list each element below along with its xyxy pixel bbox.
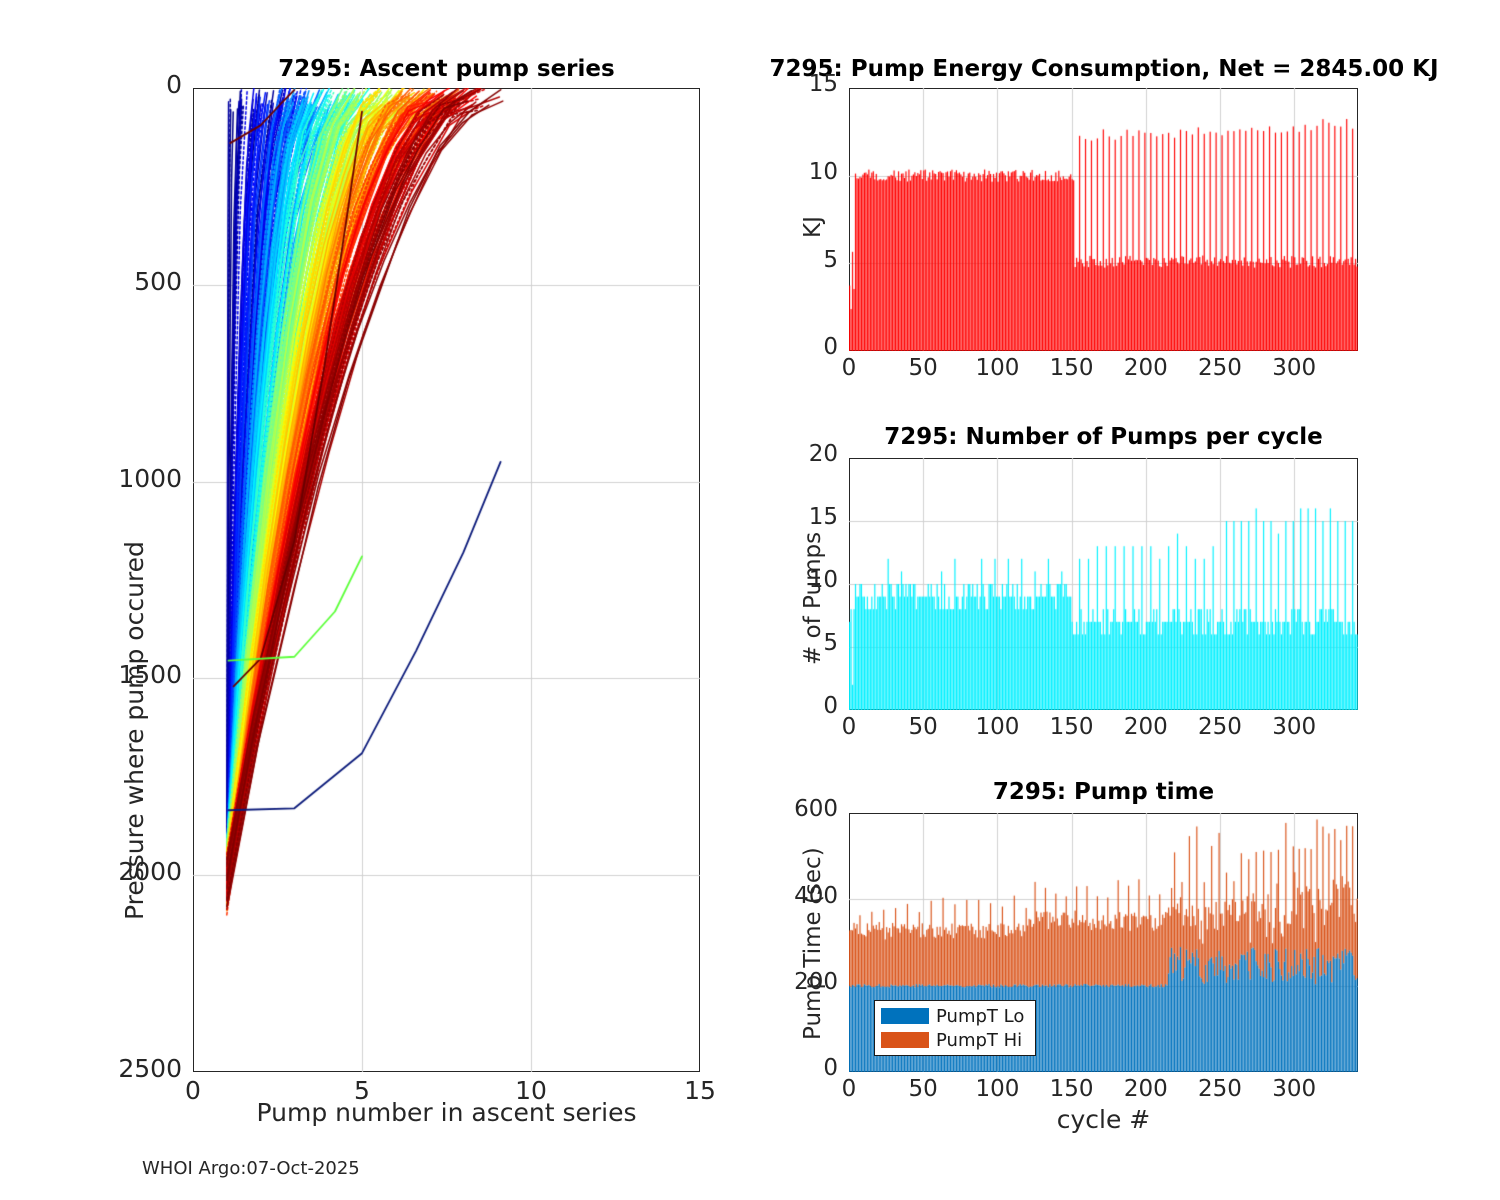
pumps-per-cycle-canvas	[849, 458, 1358, 710]
pumps-yticks-15: 15	[754, 504, 838, 530]
legend-item-pumpt-lo[interactable]: PumpT Lo	[879, 1005, 1031, 1027]
pumps-yticks-20: 20	[754, 441, 838, 467]
pumps-xticks-250: 250	[1180, 714, 1260, 740]
pump-time-legend[interactable]: PumpT Lo PumpT Hi	[874, 1000, 1036, 1056]
left-yticks-1000: 1000	[98, 464, 182, 493]
left-xticks-5: 5	[322, 1076, 402, 1105]
pumps-yticks-10: 10	[754, 567, 838, 593]
energy-yticks-5: 5	[754, 247, 838, 273]
time-xticks-150: 150	[1032, 1076, 1112, 1102]
energy-yticks-10: 10	[754, 159, 838, 185]
pumps-xticks-50: 50	[883, 714, 963, 740]
pump-energy-ylabel: KJ	[800, 216, 826, 238]
energy-xticks-150: 150	[1032, 355, 1112, 381]
pumps-xticks-100: 100	[957, 714, 1037, 740]
pumps-yticks-0: 0	[754, 693, 838, 719]
time-xticks-250: 250	[1180, 1076, 1260, 1102]
energy-xticks-50: 50	[883, 355, 963, 381]
legend-label-pumpt-hi: PumpT Hi	[936, 1030, 1022, 1051]
pumps-per-cycle-title: 7295: Number of Pumps per cycle	[849, 424, 1358, 450]
time-xticks-200: 200	[1106, 1076, 1186, 1102]
energy-xticks-200: 200	[1106, 355, 1186, 381]
time-xticks-300: 300	[1254, 1076, 1334, 1102]
pump-energy-canvas	[849, 88, 1358, 351]
time-yticks-400: 400	[754, 883, 838, 909]
time-yticks-200: 200	[754, 969, 838, 995]
left-yticks-2500: 2500	[98, 1054, 182, 1083]
energy-yticks-0: 0	[754, 334, 838, 360]
energy-yticks-15: 15	[754, 71, 838, 97]
ascent-pump-series-canvas	[193, 88, 700, 1072]
ascent-pump-series-xlabel: Pump number in ascent series	[193, 1098, 700, 1127]
ascent-pump-series-title: 7295: Ascent pump series	[193, 56, 700, 82]
argo-pump-diagnostics-figure: 7295: Ascent pump series Pump number in …	[0, 0, 1500, 1200]
footer-timestamp: WHOI Argo:07-Oct-2025	[142, 1158, 360, 1179]
energy-xticks-300: 300	[1254, 355, 1334, 381]
left-yticks-2000: 2000	[98, 857, 182, 886]
left-yticks-1500: 1500	[98, 660, 182, 689]
pumps-xticks-150: 150	[1032, 714, 1112, 740]
left-yticks-0: 0	[98, 70, 182, 99]
time-xticks-100: 100	[957, 1076, 1037, 1102]
left-yticks-500: 500	[98, 267, 182, 296]
left-xticks-15: 15	[660, 1076, 740, 1105]
time-yticks-0: 0	[754, 1055, 838, 1081]
pump-time-xlabel: cycle #	[849, 1105, 1358, 1134]
legend-swatch-pumpt-hi	[881, 1032, 929, 1048]
time-xticks-50: 50	[883, 1076, 963, 1102]
legend-item-pumpt-hi[interactable]: PumpT Hi	[879, 1029, 1031, 1051]
energy-xticks-250: 250	[1180, 355, 1260, 381]
pump-energy-title: 7295: Pump Energy Consumption, Net = 284…	[764, 56, 1444, 82]
pumps-xticks-300: 300	[1254, 714, 1334, 740]
legend-swatch-pumpt-lo	[881, 1008, 929, 1024]
legend-label-pumpt-lo: PumpT Lo	[936, 1006, 1024, 1027]
pumps-xticks-200: 200	[1106, 714, 1186, 740]
pump-time-ylabel: Pump Time (sec)	[800, 847, 826, 1040]
pump-time-title: 7295: Pump time	[849, 779, 1358, 805]
pumps-yticks-5: 5	[754, 630, 838, 656]
energy-xticks-100: 100	[957, 355, 1037, 381]
time-yticks-600: 600	[754, 796, 838, 822]
left-xticks-10: 10	[491, 1076, 571, 1105]
